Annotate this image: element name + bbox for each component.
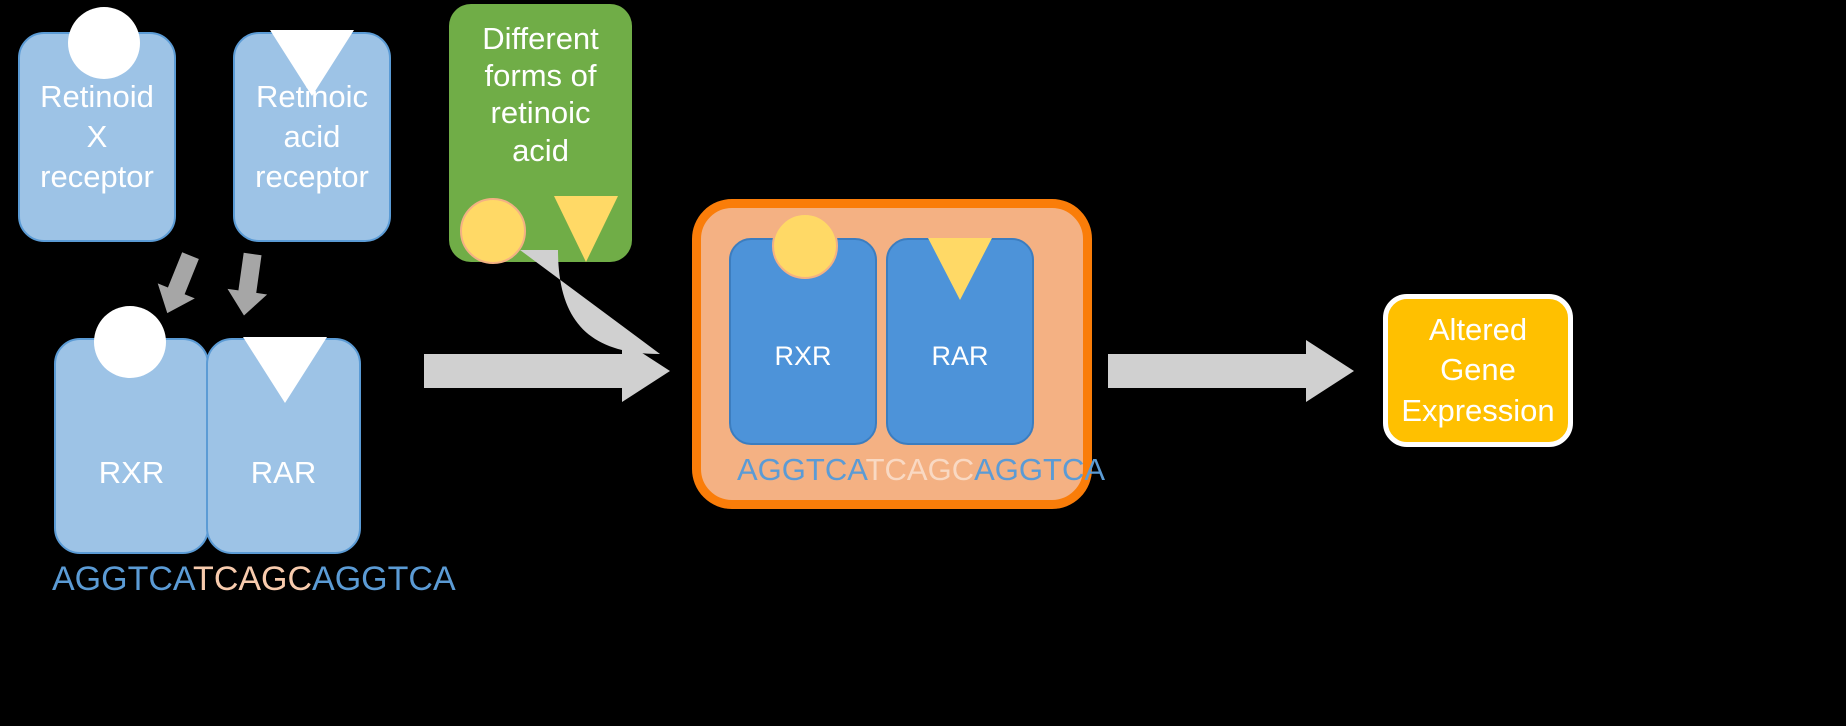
altered-gene-expression-box: Altered Gene Expression [1383,294,1573,447]
complex-bound-circle-ligand-icon [772,213,838,279]
ligand-source-line2: forms of [449,57,632,94]
dimer-rxr-label: RXR [99,453,164,493]
dimer-dna-seg-2: TCAGC [193,560,312,598]
altered-gene-expression-label: Altered Gene Expression [1401,310,1554,431]
outcome-line1: Altered [1401,310,1554,350]
rar-unbound-label: Retinoic acid receptor [255,77,369,196]
rxr-unbound-circle-notch-icon [68,7,140,79]
dimer-rxr-circle-notch-icon [94,306,166,378]
rxr-unbound-label: Retinoid X receptor [40,77,154,196]
outcome-line2: Gene [1401,350,1554,390]
complex-rar-label: RAR [931,341,988,372]
complex-dna-seg-2: TCAGC [866,452,975,487]
dimer-dna-seg-1: AGGTCA [52,560,193,598]
diagram-canvas: Retinoid X receptor Retinoic acid recept… [0,0,1846,726]
ligand-source-line3: retinoic [449,94,632,131]
ligand-source-line1: Different [449,20,632,57]
activation-arrow [424,340,674,402]
dimer-rar-triangle-notch-icon [243,337,327,403]
rar-unbound-label-line2: acid [255,117,369,157]
complex-bound-triangle-ligand-icon [928,238,992,300]
outcome-line3: Expression [1401,391,1554,431]
ligand-source-line4: acid [449,132,632,169]
dimer-rar-label: RAR [251,453,316,493]
rxr-unbound-label-line2: X [40,117,154,157]
dimer-dna-seg-3: AGGTCA [312,560,456,598]
complex-dna-seg-1: AGGTCA [737,452,866,487]
complex-dna-seg-3: AGGTCA [974,452,1105,487]
rar-unbound-label-line1: Retinoic [255,77,369,117]
rxr-unbound-label-line1: Retinoid [40,77,154,117]
dimerization-arrow-left [145,252,215,322]
gene-expression-arrow [1108,340,1358,402]
complex-dna-sequence: AGGTCATCAGCAGGTCA [737,452,1105,488]
rar-unbound-label-line3: receptor [255,157,369,197]
dimer-dna-sequence: AGGTCATCAGCAGGTCA [52,560,456,599]
rxr-unbound-label-line3: receptor [40,157,154,197]
dimerization-arrow-right [215,252,285,322]
ligand-source-label: Different forms of retinoic acid [449,20,632,169]
complex-rxr-label: RXR [774,341,831,372]
